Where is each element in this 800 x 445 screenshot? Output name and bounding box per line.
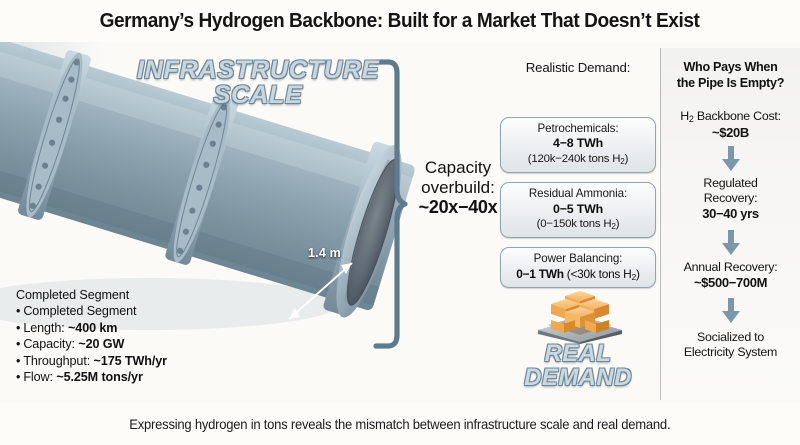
spec-label: Throughput: bbox=[23, 354, 93, 368]
list-item: •Flow: ~5.25M tons/yr bbox=[16, 369, 167, 386]
who-pays-title-line-2: the Pipe Is Empty? bbox=[667, 76, 794, 92]
spec-label: Length: bbox=[23, 321, 68, 335]
pipe-diameter-label: 1.4 m bbox=[308, 246, 341, 260]
demand-value: 4−8 TWh bbox=[505, 136, 651, 152]
who-pays-step-backbone-cost: H2 Backbone Cost: ~$20B bbox=[661, 109, 800, 140]
capacity-value: ~20x−40x bbox=[404, 197, 512, 218]
step-name-2: Electricity System bbox=[665, 345, 796, 360]
wordmark-line-2: SCALE bbox=[125, 83, 390, 108]
list-item: •Completed Segment bbox=[16, 303, 167, 320]
demand-sub: (120k−240k tons H2) bbox=[505, 152, 651, 167]
title-bar: Germany’s Hydrogen Backbone: Built for a… bbox=[0, 0, 800, 42]
caption-bar: Expressing hydrogen in tons reveals the … bbox=[0, 403, 800, 445]
step-name: H2 Backbone Cost: bbox=[665, 109, 796, 125]
list-item: •Throughput: ~175 TWh/yr bbox=[16, 353, 167, 370]
down-arrow-icon bbox=[721, 146, 741, 172]
capacity-line-1: Capacity bbox=[404, 158, 512, 178]
spec-value: ~400 km bbox=[68, 321, 117, 335]
step-name: Annual Recovery: bbox=[665, 260, 796, 275]
who-pays-title-line-1: Who Pays When bbox=[667, 60, 794, 76]
bullet-icon: • bbox=[16, 370, 20, 384]
specs-heading: Completed Segment bbox=[16, 288, 167, 302]
real-demand-line-2: DEMAND bbox=[500, 366, 656, 390]
bullet-icon: • bbox=[16, 321, 20, 335]
step-name: Regulated bbox=[665, 176, 796, 191]
bullet-icon: • bbox=[16, 354, 20, 368]
real-demand-line-1: REAL bbox=[500, 342, 656, 366]
demand-name: Power Balancing: bbox=[505, 252, 651, 266]
spec-value: ~20 GW bbox=[78, 337, 124, 351]
spec-value: ~5.25M tons/yr bbox=[56, 370, 142, 384]
real-demand-wordmark: REAL DEMAND bbox=[500, 342, 656, 389]
who-pays-step-socialized: Socialized to Electricity System bbox=[661, 330, 800, 360]
demand-name: Residual Ammonia: bbox=[505, 187, 651, 201]
spec-label: Capacity: bbox=[23, 337, 78, 351]
step-value: ~$500−700M bbox=[665, 275, 796, 291]
bullet-icon: • bbox=[16, 337, 20, 351]
demand-heading: Realistic Demand: bbox=[500, 60, 656, 75]
caption-text: Expressing hydrogen in tons reveals the … bbox=[129, 417, 670, 432]
completed-segment-specs: Completed Segment •Completed Segment •Le… bbox=[16, 288, 167, 386]
demand-sub: (0−150k tons H2) bbox=[505, 217, 651, 232]
specs-list: •Completed Segment •Length: ~400 km •Cap… bbox=[16, 303, 167, 386]
spec-label: Completed Segment bbox=[23, 304, 136, 318]
who-pays-step-annual-recovery: Annual Recovery: ~$500−700M bbox=[661, 260, 800, 290]
who-pays-panel: Who Pays When the Pipe Is Empty? H2 Back… bbox=[660, 48, 800, 400]
step-name: Socialized to bbox=[665, 330, 796, 345]
demand-value: 0−5 TWh bbox=[505, 202, 651, 218]
list-item: •Capacity: ~20 GW bbox=[16, 336, 167, 353]
who-pays-step-regulated-recovery: Regulated Recovery: 30−40 yrs bbox=[661, 176, 800, 221]
capacity-overbuild-block: Capacity overbuild: ~20x−40x bbox=[404, 158, 512, 218]
page-title: Germany’s Hydrogen Backbone: Built for a… bbox=[100, 9, 700, 33]
wordmark-line-1: INFRASTRUCTURE bbox=[125, 58, 390, 83]
spec-value: ~175 TWh/yr bbox=[94, 354, 167, 368]
bullet-icon: • bbox=[16, 304, 20, 318]
capacity-line-2: overbuild: bbox=[404, 178, 512, 198]
list-item: •Length: ~400 km bbox=[16, 320, 167, 337]
demand-box-residual-ammonia: Residual Ammonia: 0−5 TWh (0−150k tons H… bbox=[500, 182, 656, 238]
infrastructure-scale-wordmark: INFRASTRUCTURE SCALE bbox=[128, 58, 388, 107]
infographic-root: INFRASTRUCTURE SCALE 1.4 m Completed Seg… bbox=[0, 0, 800, 445]
crate-pallet-icon bbox=[534, 278, 626, 349]
demand-box-petrochemicals: Petrochemicals: 4−8 TWh (120k−240k tons … bbox=[500, 117, 656, 173]
realistic-demand-column: Realistic Demand: Petrochemicals: 4−8 TW… bbox=[500, 60, 656, 297]
down-arrow-icon bbox=[721, 298, 741, 324]
step-value: ~$20B bbox=[665, 125, 796, 141]
who-pays-title: Who Pays When the Pipe Is Empty? bbox=[661, 60, 800, 91]
down-arrow-icon bbox=[721, 230, 741, 256]
step-value: 30−40 yrs bbox=[665, 206, 796, 222]
step-name-2: Recovery: bbox=[665, 191, 796, 206]
spec-label: Flow: bbox=[23, 370, 56, 384]
demand-name: Petrochemicals: bbox=[505, 122, 651, 136]
